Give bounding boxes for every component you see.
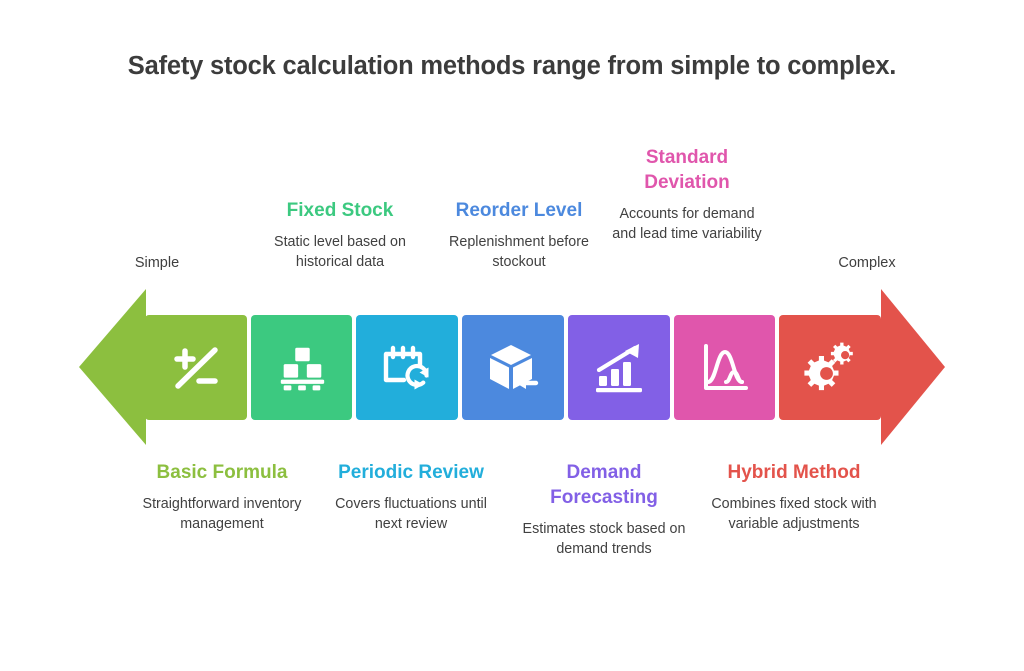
callout-title: Demand Forecasting (516, 460, 692, 510)
callout-description: Straightforward inventory management (130, 494, 314, 535)
method-tile-strip (145, 315, 881, 420)
tile-standard-deviation[interactable] (674, 315, 776, 420)
tile-fixed-stock[interactable] (251, 315, 353, 420)
callout-standard-deviation: Standard Deviation Accounts for demand a… (608, 145, 766, 245)
callout-description: Replenishment before stockout (425, 232, 613, 273)
callout-periodic-review: Periodic Review Covers fluctuations unti… (324, 460, 498, 535)
tile-periodic-review[interactable] (356, 315, 458, 420)
gears-icon (802, 340, 858, 396)
tile-basic-formula[interactable] (145, 315, 247, 420)
pallet-boxes-icon (275, 341, 329, 395)
callout-description: Estimates stock based on demand trends (516, 519, 692, 560)
callout-reorder-level: Reorder Level Replenishment before stock… (425, 198, 613, 273)
calendar-refresh-icon (379, 340, 435, 396)
callout-description: Static level based on historical data (245, 232, 435, 273)
callout-title: Standard Deviation (608, 145, 766, 195)
callout-hybrid-method: Hybrid Method Combines fixed stock with … (704, 460, 884, 535)
callout-description: Combines fixed stock with variable adjus… (704, 494, 884, 535)
tile-hybrid-method[interactable] (779, 315, 881, 420)
callout-basic-formula: Basic Formula Straightforward inventory … (130, 460, 314, 535)
right-arrow-head (881, 289, 945, 445)
growth-bar-chart-icon (591, 340, 647, 396)
page-title: Safety stock calculation methods range f… (0, 52, 1024, 81)
callout-title: Reorder Level (425, 198, 613, 223)
box-inbound-arrow-icon (485, 340, 541, 396)
callout-description: Covers fluctuations until next review (324, 494, 498, 535)
tile-demand-forecasting[interactable] (568, 315, 670, 420)
bell-curve-chart-icon (696, 340, 752, 396)
callout-title: Basic Formula (130, 460, 314, 485)
callout-demand-forecasting: Demand Forecasting Estimates stock based… (516, 460, 692, 560)
scale-label-simple: Simple (112, 255, 202, 271)
callout-title: Periodic Review (324, 460, 498, 485)
plus-minus-icon (168, 340, 224, 396)
infographic-canvas: Safety stock calculation methods range f… (0, 0, 1024, 671)
callout-title: Fixed Stock (245, 198, 435, 223)
callout-description: Accounts for demand and lead time variab… (608, 204, 766, 245)
scale-label-complex: Complex (820, 255, 914, 271)
left-arrow-head (79, 289, 146, 445)
callout-title: Hybrid Method (704, 460, 884, 485)
tile-reorder-level[interactable] (462, 315, 564, 420)
callout-fixed-stock: Fixed Stock Static level based on histor… (245, 198, 435, 273)
